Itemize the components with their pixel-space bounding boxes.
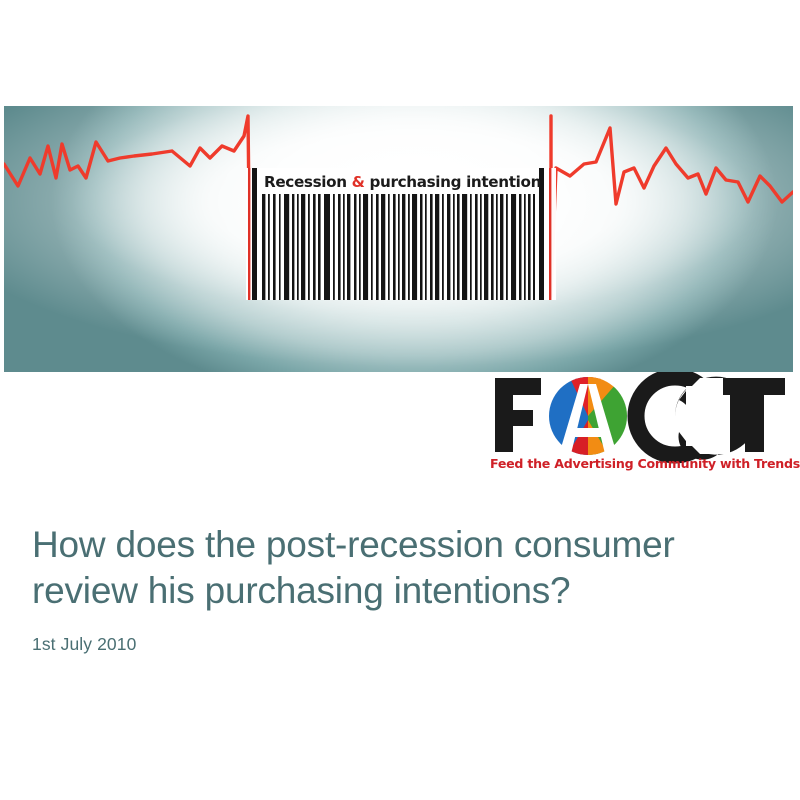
barcode-caption: Recession & purchasing intention [264, 170, 540, 194]
logo-letter-f [495, 378, 541, 452]
slide-date: 1st July 2010 [32, 634, 762, 655]
logo-letter-a-disc [549, 372, 627, 468]
title-block: How does the post-recession consumer rev… [32, 522, 762, 655]
page-title: How does the post-recession consumer rev… [32, 522, 732, 614]
barcode-caption-ampersand: & [352, 173, 365, 191]
title-slide: Recession & purchasing intention [0, 0, 800, 800]
hero-banner: Recession & purchasing intention [4, 106, 793, 372]
barcode-caption-before: Recession [264, 173, 352, 191]
fact-logo: Feed the Advertising Community with Tren… [490, 372, 790, 480]
barcode-caption-after: purchasing intention [365, 173, 542, 191]
logo-tagline: Feed the Advertising Community with Tren… [490, 456, 790, 471]
barcode-graphic: Recession & purchasing intention [246, 168, 556, 300]
